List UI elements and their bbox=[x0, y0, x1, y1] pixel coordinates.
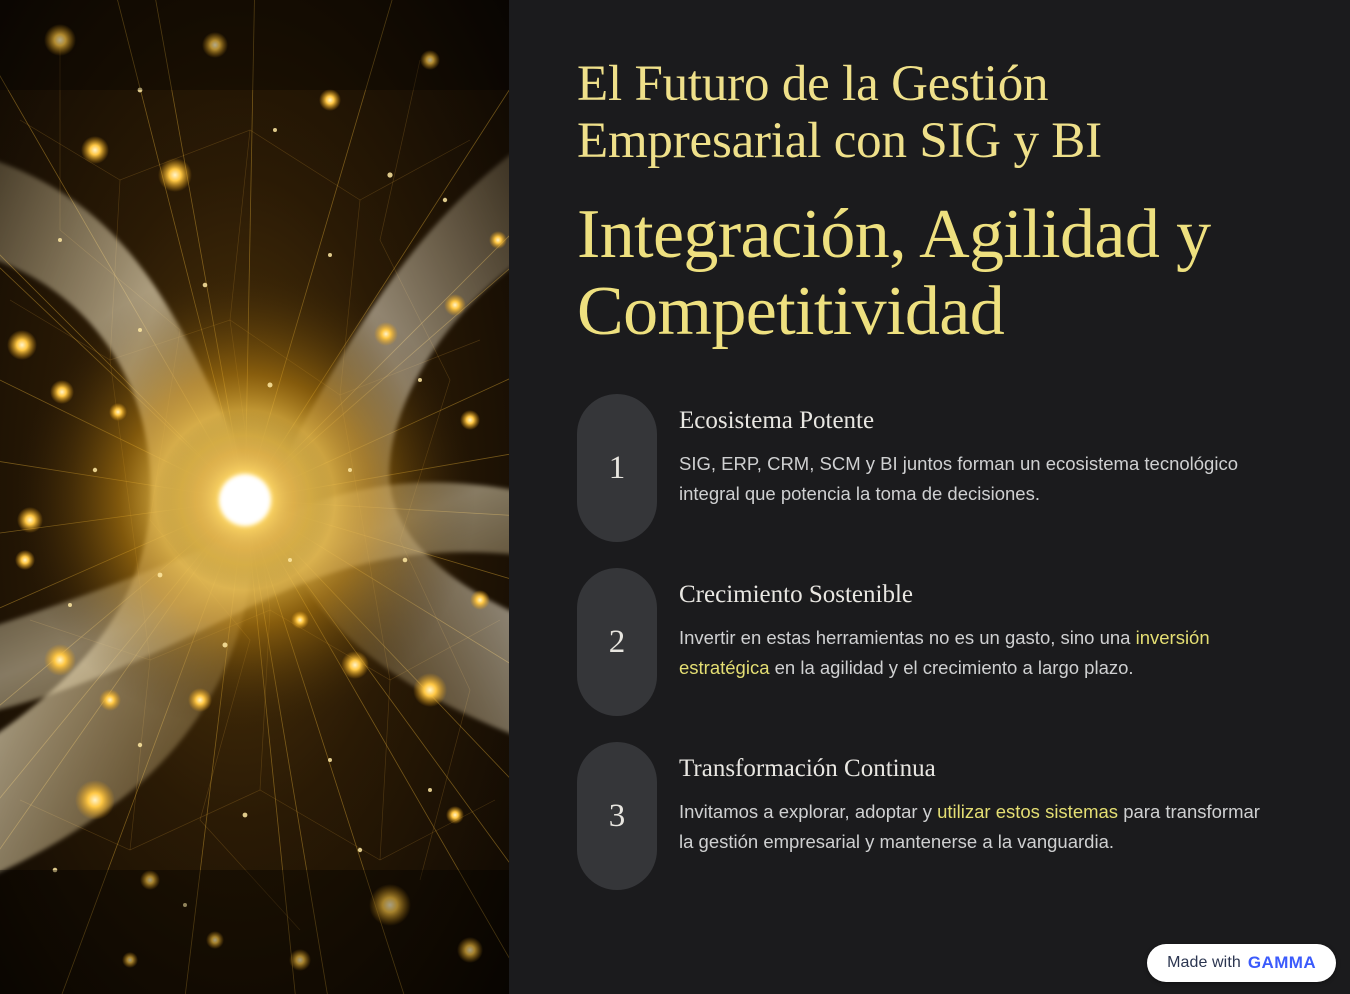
point-text: Invertir en estas herramientas no es un … bbox=[679, 623, 1278, 683]
point-text-part: en la agilidad y el crecimiento a largo … bbox=[770, 657, 1134, 678]
slide-root: El Futuro de la Gestión Empresarial con … bbox=[0, 0, 1350, 994]
point-number-badge: 3 bbox=[577, 742, 657, 890]
made-with-gamma-badge[interactable]: Made with GAMMA bbox=[1147, 944, 1336, 982]
point-heading: Ecosistema Potente bbox=[679, 406, 1278, 436]
point-body: Ecosistema Potente SIG, ERP, CRM, SCM y … bbox=[679, 394, 1278, 542]
numbered-points-list: 1 Ecosistema Potente SIG, ERP, CRM, SCM … bbox=[577, 394, 1278, 890]
point-heading: Transformación Continua bbox=[679, 754, 1278, 784]
gamma-brand-label: GAMMA bbox=[1248, 953, 1316, 973]
point-text: Invitamos a explorar, adoptar y utilizar… bbox=[679, 797, 1278, 857]
point-number: 1 bbox=[609, 452, 626, 485]
list-item[interactable]: 3 Transformación Continua Invitamos a ex… bbox=[577, 742, 1278, 890]
point-body: Transformación Continua Invitamos a expl… bbox=[679, 742, 1278, 890]
point-text-part: Invertir en estas herramientas no es un … bbox=[679, 627, 1136, 648]
point-number-badge: 1 bbox=[577, 394, 657, 542]
content-panel: El Futuro de la Gestión Empresarial con … bbox=[509, 0, 1350, 994]
point-text: SIG, ERP, CRM, SCM y BI juntos forman un… bbox=[679, 449, 1278, 509]
list-item[interactable]: 1 Ecosistema Potente SIG, ERP, CRM, SCM … bbox=[577, 394, 1278, 542]
gamma-prefix-label: Made with bbox=[1167, 954, 1241, 972]
list-item[interactable]: 2 Crecimiento Sostenible Invertir en est… bbox=[577, 568, 1278, 716]
point-body: Crecimiento Sostenible Invertir en estas… bbox=[679, 568, 1278, 716]
point-text-highlight: utilizar estos sistemas bbox=[937, 801, 1118, 822]
point-text-part: SIG, ERP, CRM, SCM y BI juntos forman un… bbox=[679, 453, 1238, 504]
hero-image-panel bbox=[0, 0, 509, 994]
point-number: 3 bbox=[609, 800, 626, 833]
point-number: 2 bbox=[609, 626, 626, 659]
point-number-badge: 2 bbox=[577, 568, 657, 716]
page-title: Integración, Agilidad y Competitividad bbox=[577, 196, 1278, 350]
point-text-part: Invitamos a explorar, adoptar y bbox=[679, 801, 937, 822]
golden-network-burst-image bbox=[0, 0, 509, 994]
point-heading: Crecimiento Sostenible bbox=[679, 580, 1278, 610]
eyebrow-title: El Futuro de la Gestión Empresarial con … bbox=[577, 56, 1197, 170]
